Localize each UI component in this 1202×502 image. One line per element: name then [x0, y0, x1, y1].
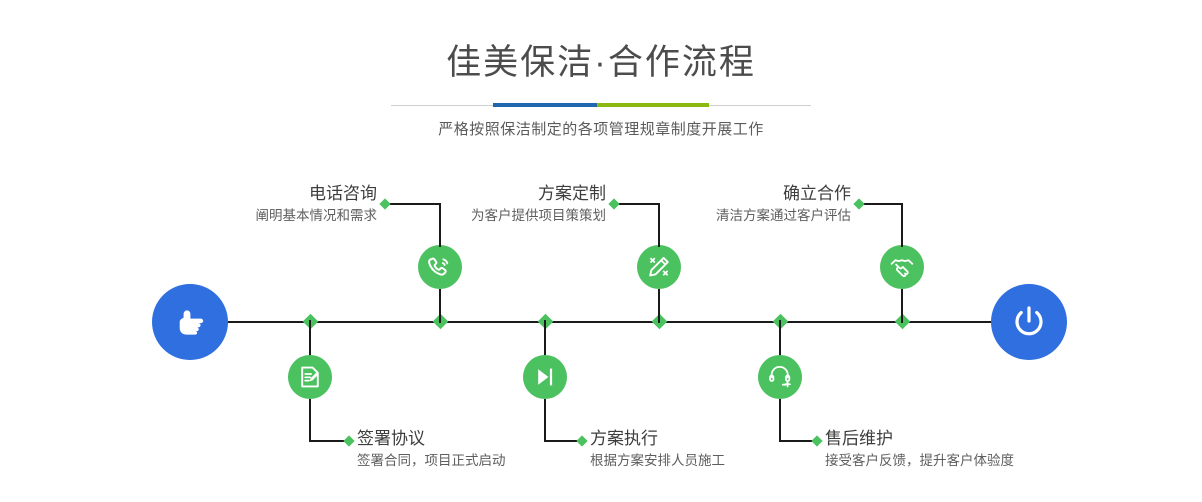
timeline-end-badge [991, 284, 1067, 360]
step-node-3[interactable] [637, 245, 681, 289]
connector-stem-5 [901, 289, 903, 323]
connector-stem-4 [544, 320, 546, 358]
customer-service-icon [767, 364, 793, 390]
label-stem-6 [779, 399, 781, 442]
timeline-start-badge [152, 284, 228, 360]
step-label-1: 电话咨询 阐明基本情况和需求 [155, 184, 377, 225]
label-marker-2 [343, 435, 354, 446]
label-marker-3 [608, 198, 619, 209]
step-title-1: 电话咨询 [155, 184, 377, 204]
step-desc-3: 为客户提供项目策策划 [385, 207, 606, 225]
handshake-icon [889, 254, 915, 280]
label-stem-4 [544, 399, 546, 442]
label-stem-5 [901, 203, 903, 247]
step-label-4: 方案执行 根据方案安排人员施工 [590, 429, 850, 470]
step-label-6: 售后维护 接受客户反馈，提升客户体验度 [825, 429, 1115, 470]
step-desc-5: 清洁方案通过客户评估 [620, 207, 851, 225]
power-icon [1008, 301, 1050, 343]
step-node-6[interactable] [758, 355, 802, 399]
flowchart-page: 佳美保洁·合作流程 严格按照保洁制定的各项管理规章制度开展工作 [0, 0, 1202, 502]
step-desc-4: 根据方案安排人员施工 [590, 452, 850, 470]
label-arm-5 [859, 203, 903, 205]
step-label-3: 方案定制 为客户提供项目策策划 [385, 184, 606, 225]
step-label-2: 签署协议 签署合同，项目正式启动 [357, 429, 617, 470]
pencil-design-icon [646, 254, 672, 280]
step-node-4[interactable] [523, 355, 567, 399]
step-node-5[interactable] [880, 245, 924, 289]
step-desc-1: 阐明基本情况和需求 [155, 207, 377, 225]
process-timeline: 电话咨询 阐明基本情况和需求 签署协议 签署合同，项目正式启动 [0, 0, 1202, 502]
step-title-5: 确立合作 [620, 184, 851, 204]
step-label-5: 确立合作 清洁方案通过客户评估 [620, 184, 851, 225]
step-desc-6: 接受客户反馈，提升客户体验度 [825, 452, 1115, 470]
step-title-4: 方案执行 [590, 429, 850, 449]
step-node-1[interactable] [418, 245, 462, 289]
connector-stem-3 [658, 289, 660, 323]
phone-call-icon [427, 254, 453, 280]
connector-stem-6 [779, 320, 781, 358]
play-execute-icon [532, 364, 558, 390]
step-title-3: 方案定制 [385, 184, 606, 204]
step-node-2[interactable] [288, 355, 332, 399]
label-marker-5 [853, 198, 864, 209]
connector-stem-1 [439, 289, 441, 323]
connector-stem-2 [309, 320, 311, 358]
step-title-6: 售后维护 [825, 429, 1115, 449]
step-desc-2: 签署合同，项目正式启动 [357, 452, 617, 470]
pointing-hand-icon [170, 302, 210, 342]
label-stem-2 [309, 399, 311, 442]
document-sign-icon [297, 364, 323, 390]
